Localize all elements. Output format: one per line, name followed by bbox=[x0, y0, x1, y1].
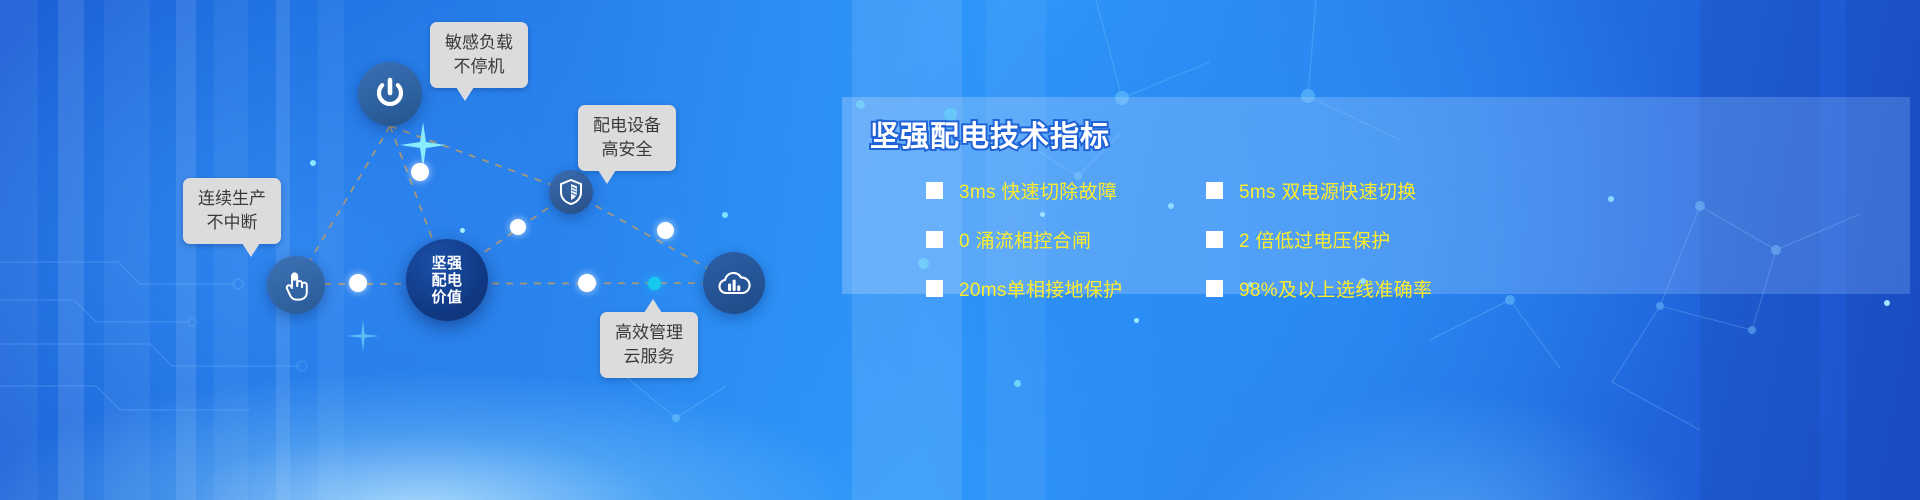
callout-line-2: 高安全 bbox=[593, 138, 661, 162]
sparkle-icon bbox=[400, 122, 446, 168]
callout-line-1: 高效管理 bbox=[615, 321, 683, 345]
callout-line-2: 不停机 bbox=[445, 55, 513, 79]
link-node-dot bbox=[411, 163, 429, 181]
callout-line-2: 不中断 bbox=[198, 211, 266, 235]
bullet-square-icon bbox=[926, 182, 943, 199]
link-node-dot bbox=[648, 277, 661, 290]
link-node-dot bbox=[657, 222, 674, 239]
value-diagram: 坚强 配电 价值 敏感负载 不停机 配电设备 高安全 连续生产 不中断 高效管理… bbox=[0, 0, 860, 500]
spec-item: 5ms 双电源快速切换 bbox=[1206, 177, 1890, 204]
spec-panel-title: 坚强配电技术指标 bbox=[870, 113, 1110, 155]
promo-banner: 坚强 配电 价值 敏感负载 不停机 配电设备 高安全 连续生产 不中断 高效管理… bbox=[0, 0, 1920, 500]
spec-item: 3ms 快速切除故障 bbox=[926, 177, 1206, 204]
center-hub: 坚强 配电 价值 bbox=[406, 239, 488, 321]
link-node-dot bbox=[349, 274, 367, 292]
callout-continuous-production[interactable]: 连续生产 不中断 bbox=[183, 178, 281, 244]
touch-hand-icon bbox=[281, 269, 311, 301]
link-node-dot bbox=[578, 274, 596, 292]
cloud-chart-icon bbox=[716, 267, 752, 299]
spec-panel: 坚强配电技术指标 3ms 快速切除故障 5ms 双电源快速切换 0 涌流相控合闸… bbox=[842, 97, 1910, 294]
shield-icon bbox=[559, 179, 583, 205]
bullet-square-icon bbox=[1206, 280, 1223, 297]
callout-equipment-safety[interactable]: 配电设备 高安全 bbox=[578, 105, 676, 171]
callout-cloud-service[interactable]: 高效管理 云服务 bbox=[600, 312, 698, 378]
node-cloud[interactable] bbox=[703, 252, 765, 314]
node-touch[interactable] bbox=[267, 256, 325, 314]
callout-line-1: 敏感负载 bbox=[445, 31, 513, 55]
power-icon bbox=[372, 76, 408, 112]
callout-line-2: 云服务 bbox=[615, 345, 683, 369]
callout-sensitive-load[interactable]: 敏感负载 不停机 bbox=[430, 22, 528, 88]
sparkle-icon bbox=[345, 318, 381, 354]
bullet-square-icon bbox=[926, 231, 943, 248]
spec-item-text: 3ms 快速切除故障 bbox=[959, 177, 1117, 204]
spec-item-text: 2 倍低过电压保护 bbox=[1239, 226, 1391, 253]
spec-item-text: 20ms单相接地保护 bbox=[959, 275, 1122, 302]
link-node-dot bbox=[510, 219, 526, 235]
spec-item-text: 5ms 双电源快速切换 bbox=[1239, 177, 1416, 204]
callout-line-1: 连续生产 bbox=[198, 187, 266, 211]
callout-line-1: 配电设备 bbox=[593, 114, 661, 138]
node-power[interactable] bbox=[358, 62, 422, 126]
spec-item: 0 涌流相控合闸 bbox=[926, 226, 1206, 253]
bullet-square-icon bbox=[926, 280, 943, 297]
bullet-square-icon bbox=[1206, 231, 1223, 248]
spec-item-text: 98%及以上选线准确率 bbox=[1239, 275, 1432, 302]
hub-line-2: 配电 bbox=[431, 272, 462, 289]
spec-list: 3ms 快速切除故障 5ms 双电源快速切换 0 涌流相控合闸 2 倍低过电压保… bbox=[926, 177, 1890, 302]
node-shield[interactable] bbox=[549, 170, 593, 214]
spec-item: 2 倍低过电压保护 bbox=[1206, 226, 1890, 253]
bullet-square-icon bbox=[1206, 182, 1223, 199]
spec-item-text: 0 涌流相控合闸 bbox=[959, 226, 1091, 253]
hub-line-3: 价值 bbox=[431, 289, 462, 306]
spec-item: 20ms单相接地保护 bbox=[926, 275, 1206, 302]
hub-line-1: 坚强 bbox=[431, 255, 462, 272]
spec-item: 98%及以上选线准确率 bbox=[1206, 275, 1890, 302]
